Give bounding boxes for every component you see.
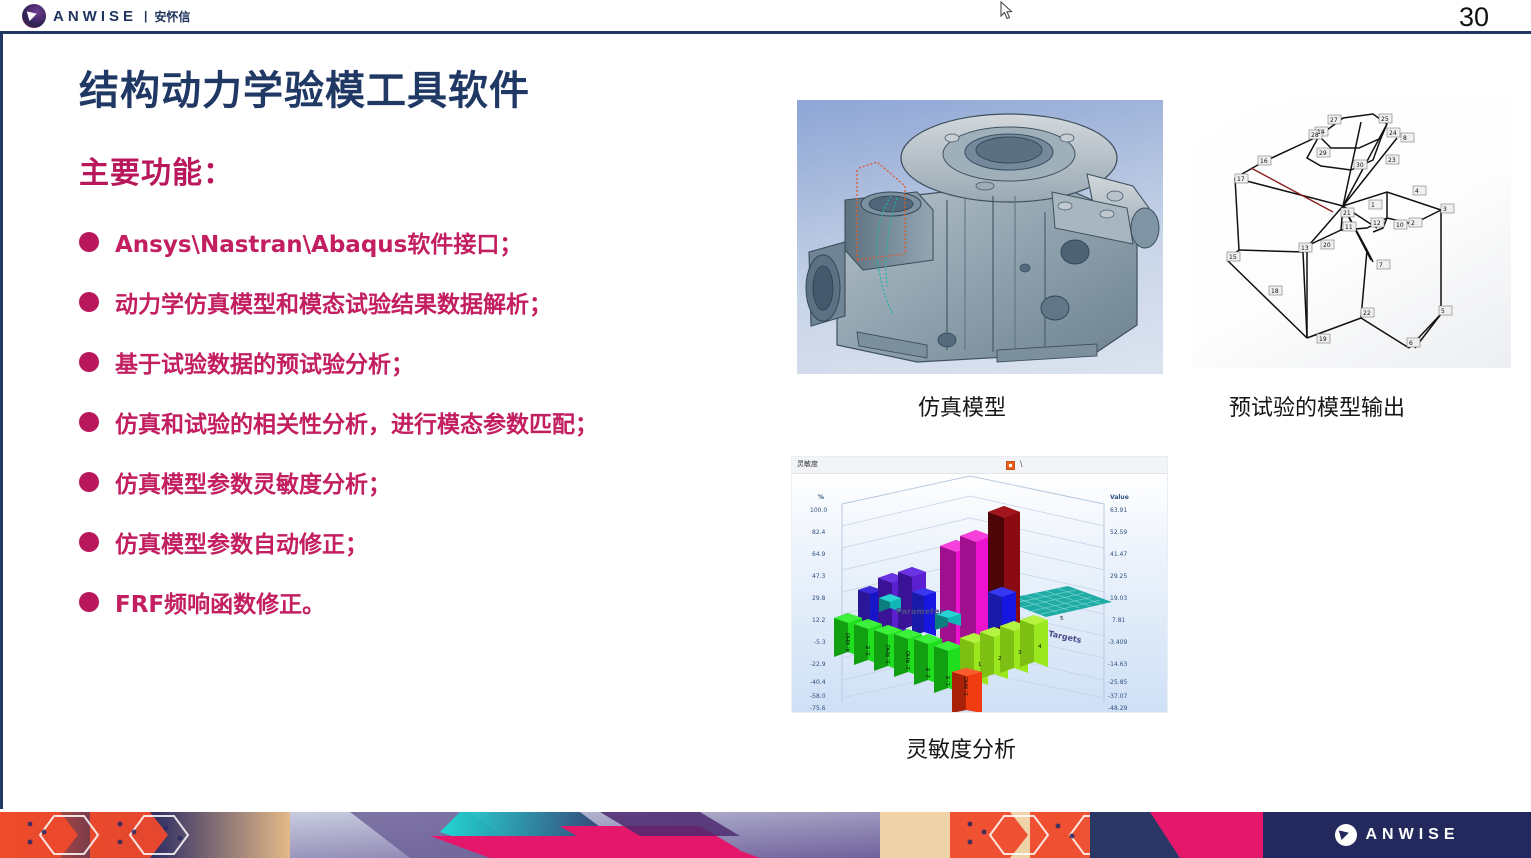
titlebar-glyph: \ bbox=[1020, 459, 1023, 469]
node-label: 16 bbox=[1260, 158, 1268, 165]
param-tick: 2: E bbox=[926, 667, 932, 678]
figure-caption-pretest-output: 预试验的模型输出 bbox=[1229, 390, 1405, 422]
section-subtitle: 主要功能： bbox=[79, 148, 234, 192]
figure-sensitivity-analysis: 灵敏度 \ bbox=[791, 456, 1168, 713]
list-item-label: 基于试验数据的预试验分析； bbox=[115, 345, 414, 379]
figure-simulation-model bbox=[797, 100, 1163, 374]
target-tick: 2 bbox=[998, 656, 1002, 662]
param-tick: 3: E bbox=[866, 645, 872, 656]
y-tick: 29.8 bbox=[812, 595, 825, 602]
param-tick: 2: RHO bbox=[906, 650, 912, 670]
brand-name-cn: 安怀信 bbox=[154, 8, 190, 25]
footer-brand-label: ANWISE bbox=[1366, 826, 1460, 844]
node-label: 28 bbox=[1311, 132, 1319, 139]
left-accent-bar bbox=[0, 34, 3, 809]
sensitivity-window-title: 灵敏度 bbox=[797, 459, 818, 469]
node-label: 17 bbox=[1237, 176, 1245, 183]
target-tick: 1 bbox=[978, 662, 982, 668]
figure-caption-simulation-model: 仿真模型 bbox=[918, 390, 1006, 422]
node-label: 13 bbox=[1301, 245, 1309, 252]
node-label: 18 bbox=[1271, 288, 1279, 295]
y-tick: -5.3 bbox=[814, 639, 826, 646]
target-tick: 4 bbox=[1038, 644, 1042, 650]
wireframe-node-illustration: 25 27 24 14 28 29 30 23 8 16 17 4 3 2 10… bbox=[1191, 100, 1511, 368]
node-label: 24 bbox=[1389, 130, 1397, 137]
slide-footer: ANWISE bbox=[0, 812, 1531, 858]
list-item-label: 仿真和试验的相关性分析，进行模态参数匹配； bbox=[115, 405, 598, 439]
bullet-dot-icon bbox=[79, 232, 99, 252]
node-label: 30 bbox=[1356, 162, 1364, 169]
list-item: 动力学仿真模型和模态试验结果数据解析； bbox=[79, 272, 799, 332]
axis-title-percent: % bbox=[818, 494, 824, 501]
y-tick: -75.6 bbox=[810, 705, 826, 712]
node-label: 21 bbox=[1343, 210, 1351, 217]
brand-separator: | bbox=[144, 9, 147, 23]
slide-canvas: ANWISE | 安怀信 30 结构动力学验模工具软件 主要功能： Ansys\… bbox=[0, 0, 1531, 858]
y2-tick: -25.85 bbox=[1108, 679, 1127, 686]
y-tick: 12.2 bbox=[812, 617, 825, 624]
node-label: 29 bbox=[1319, 150, 1327, 157]
bullet-dot-icon bbox=[79, 352, 99, 372]
list-item: 仿真模型参数灵敏度分析； bbox=[79, 452, 799, 512]
param-tick: 1: E bbox=[946, 675, 952, 686]
target-tick: 5 bbox=[1060, 616, 1064, 622]
y2-tick: -48.29 bbox=[1108, 705, 1127, 712]
y2-tick: 19.03 bbox=[1110, 595, 1127, 602]
page-number: 30 bbox=[1459, 2, 1489, 33]
node-label: 3 bbox=[1443, 206, 1447, 213]
list-item: 仿真和试验的相关性分析，进行模态参数匹配； bbox=[79, 392, 799, 452]
axis-label-targets: Targets bbox=[1048, 629, 1083, 645]
axis-label-parameter: Parameter bbox=[896, 607, 943, 616]
node-label: 10 bbox=[1396, 222, 1404, 229]
figure-pretest-model-output: 25 27 24 14 28 29 30 23 8 16 17 4 3 2 10… bbox=[1191, 100, 1511, 368]
node-label: 27 bbox=[1330, 117, 1338, 124]
param-tick: 3: RHO bbox=[886, 644, 892, 664]
list-item-label: FRF频响函数修正。 bbox=[115, 585, 325, 619]
y2-tick: 7.81 bbox=[1112, 617, 1125, 624]
node-label: 6 bbox=[1409, 340, 1413, 347]
list-item: Ansys\Nastran\Abaqus软件接口； bbox=[79, 212, 799, 272]
node-label: 12 bbox=[1373, 220, 1381, 227]
bullet-dot-icon bbox=[79, 592, 99, 612]
y2-tick: -37.07 bbox=[1108, 693, 1127, 700]
stop-square-icon[interactable] bbox=[1006, 461, 1015, 470]
node-label: 25 bbox=[1381, 116, 1389, 123]
y-tick: 64.9 bbox=[812, 551, 825, 558]
y-tick: -40.4 bbox=[810, 679, 826, 686]
node-label: 11 bbox=[1345, 224, 1353, 231]
axis-title-value: Value bbox=[1110, 494, 1129, 501]
y-tick: 82.4 bbox=[812, 529, 825, 536]
header-divider bbox=[0, 31, 1531, 34]
node-label: 1 bbox=[1371, 202, 1375, 209]
bullet-dot-icon bbox=[79, 412, 99, 432]
list-item-label: 动力学仿真模型和模态试验结果数据解析； bbox=[115, 285, 552, 319]
node-label: 2 bbox=[1411, 220, 1415, 227]
slide-header: ANWISE | 安怀信 30 bbox=[0, 0, 1531, 32]
node-label: 19 bbox=[1319, 336, 1327, 343]
mouse-pointer-icon bbox=[1000, 1, 1014, 21]
brand-logo: ANWISE | 安怀信 bbox=[22, 4, 190, 28]
figure-caption-sensitivity: 灵敏度分析 bbox=[906, 732, 1016, 764]
y2-tick: -3.409 bbox=[1108, 639, 1127, 646]
y-tick: -22.9 bbox=[810, 661, 826, 668]
node-label: 7 bbox=[1379, 262, 1383, 269]
param-tick: 1: RHO bbox=[964, 676, 970, 696]
node-label: 20 bbox=[1323, 242, 1331, 249]
brand-name-en: ANWISE bbox=[53, 8, 137, 25]
bar-yellow-green bbox=[1020, 615, 1048, 667]
y2-tick: 52.59 bbox=[1110, 529, 1127, 536]
target-tick: 3 bbox=[1018, 650, 1022, 656]
y2-tick: 29.25 bbox=[1110, 573, 1127, 580]
y-tick: 100.0 bbox=[810, 507, 827, 514]
list-item: 仿真模型参数自动修正； bbox=[79, 512, 799, 572]
anwise-bird-icon bbox=[1335, 824, 1357, 846]
y2-tick: -14.63 bbox=[1108, 661, 1127, 668]
y2-tick: 63.91 bbox=[1110, 507, 1127, 514]
node-label: 8 bbox=[1403, 135, 1407, 142]
list-item-label: Ansys\Nastran\Abaqus软件接口； bbox=[115, 225, 522, 259]
bullet-dot-icon bbox=[79, 472, 99, 492]
list-item-label: 仿真模型参数自动修正； bbox=[115, 525, 368, 559]
bullet-dot-icon bbox=[79, 292, 99, 312]
node-label: 5 bbox=[1441, 308, 1445, 315]
sensitivity-chart-plot: Parameter Targets 4: RHO 3: E 3: RHO 2: … bbox=[792, 474, 1168, 713]
list-item-label: 仿真模型参数灵敏度分析； bbox=[115, 465, 391, 499]
list-item: FRF频响函数修正。 bbox=[79, 572, 799, 632]
list-item: 基于试验数据的预试验分析； bbox=[79, 332, 799, 392]
y2-tick: 41.47 bbox=[1110, 551, 1127, 558]
node-label: 23 bbox=[1388, 157, 1396, 164]
anwise-bird-icon bbox=[22, 4, 46, 28]
param-tick: 4: RHO bbox=[846, 632, 852, 652]
y-tick: -58.0 bbox=[810, 693, 826, 700]
cad-housing-illustration bbox=[797, 100, 1163, 374]
footer-brand: ANWISE bbox=[1263, 812, 1531, 858]
bullet-dot-icon bbox=[79, 532, 99, 552]
node-label: 15 bbox=[1229, 254, 1237, 261]
sensitivity-window-titlebar: 灵敏度 \ bbox=[792, 457, 1167, 474]
node-label: 22 bbox=[1363, 310, 1371, 317]
feature-list: Ansys\Nastran\Abaqus软件接口； 动力学仿真模型和模态试验结果… bbox=[79, 212, 799, 632]
y-tick: 47.3 bbox=[812, 573, 825, 580]
page-title: 结构动力学验模工具软件 bbox=[79, 58, 530, 116]
node-label: 4 bbox=[1415, 188, 1419, 195]
